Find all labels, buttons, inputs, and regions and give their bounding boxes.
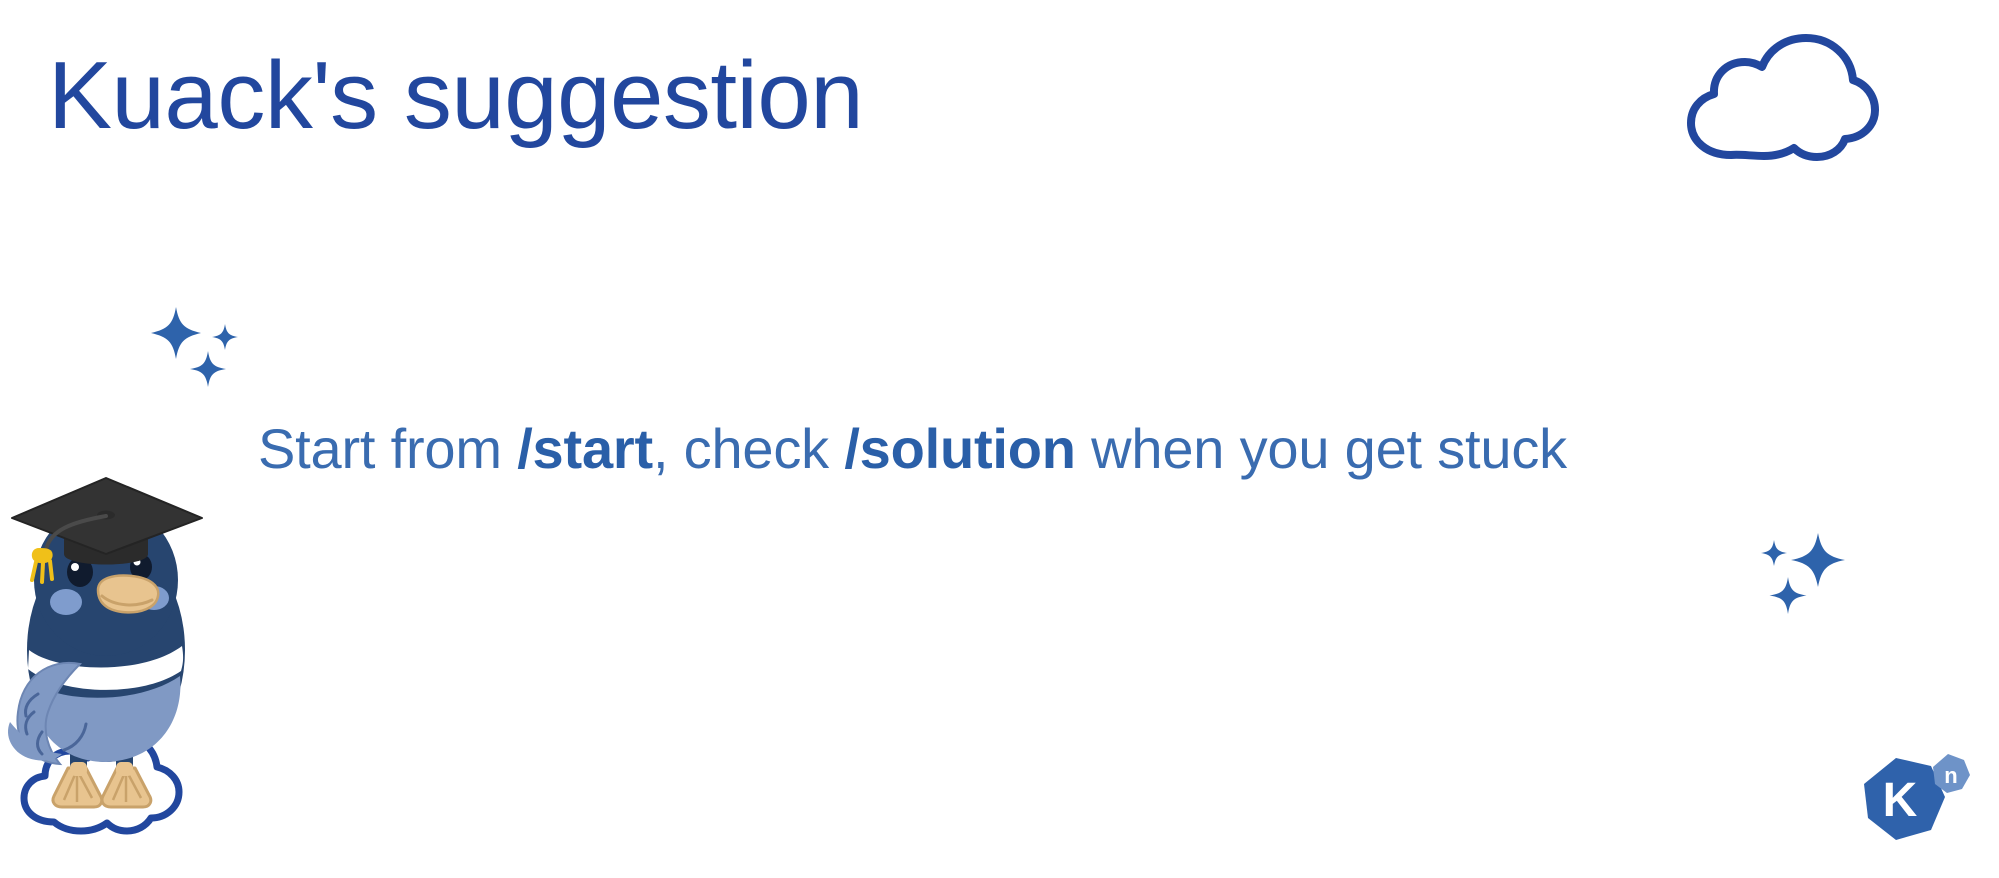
command-start: /start [517, 417, 653, 480]
body-text: Start from /start, check /solution when … [258, 414, 1567, 484]
body-text-tail: when you get stuck [1076, 417, 1567, 480]
command-solution: /solution [844, 417, 1076, 480]
body-text-lead: Start from [258, 417, 517, 480]
logo-letter-n: n [1944, 763, 1957, 788]
kuack-logo: K n [1848, 752, 1976, 862]
page-title: Kuack's suggestion [48, 42, 863, 150]
logo-letter-k: K [1883, 774, 1918, 827]
sparkles-icon [146, 303, 242, 389]
cloud-outline-icon [1669, 33, 1879, 163]
body-text-middle: , check [653, 417, 844, 480]
kuack-duck-mascot [2, 450, 222, 878]
sparkles-icon [1752, 527, 1852, 619]
slide-canvas: Kuack's suggestion [0, 0, 1999, 878]
